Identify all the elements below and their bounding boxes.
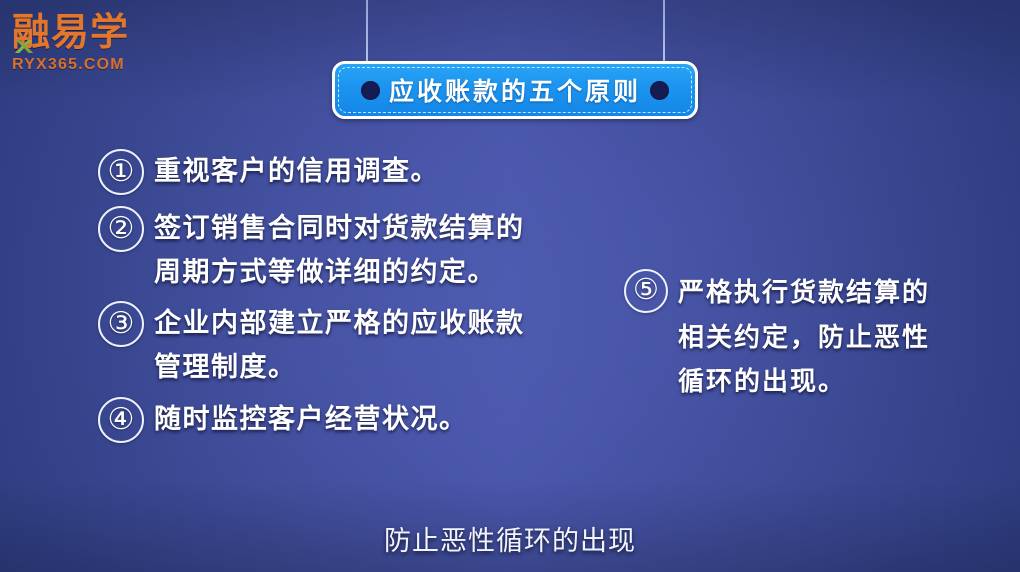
- text-line: 循环的出现。: [678, 359, 1014, 404]
- bullet-dot-icon-right: [650, 81, 669, 100]
- text-line: 重视客户的信用调查。: [154, 150, 638, 194]
- banner-content: 应收账款的五个原则: [361, 72, 669, 108]
- page-title: 应收账款的五个原则: [389, 72, 641, 108]
- logo-char-rong: 融: [12, 12, 51, 54]
- list-item: ③ 企业内部建立严格的应收账款 管理制度。: [98, 300, 638, 389]
- logo-wordmark: 融易学: [12, 14, 129, 54]
- list-item: ④ 随时监控客户经营状况。: [98, 396, 638, 443]
- banner-hanging-string-left: [366, 0, 368, 66]
- logo-char-xue: 学: [90, 12, 129, 54]
- caption-text: 防止恶性循环的出现: [384, 526, 636, 556]
- circled-number-4: ④: [98, 397, 144, 443]
- text-line: 随时监控客户经营状况。: [154, 398, 638, 442]
- list-item-text: 企业内部建立严格的应收账款 管理制度。: [154, 300, 638, 389]
- list-item-text: 重视客户的信用调查。: [154, 148, 638, 194]
- principles-right-column: ⑤ 严格执行货款结算的 相关约定，防止恶性 循环的出现。: [624, 268, 1014, 414]
- list-item-text: 严格执行货款结算的 相关约定，防止恶性 循环的出现。: [678, 268, 1014, 404]
- title-banner: 应收账款的五个原则: [332, 61, 698, 119]
- logo-char-yi: 易: [51, 12, 90, 54]
- text-line: 相关约定，防止恶性: [678, 315, 1014, 360]
- text-line: 管理制度。: [154, 346, 638, 390]
- list-item: ⑤ 严格执行货款结算的 相关约定，防止恶性 循环的出现。: [624, 268, 1014, 404]
- circled-number-2: ②: [98, 206, 144, 252]
- list-item: ② 签订销售合同时对货款结算的 周期方式等做详细的约定。: [98, 205, 638, 294]
- list-item-text: 签订销售合同时对货款结算的 周期方式等做详细的约定。: [154, 205, 638, 294]
- bottom-caption: 防止恶性循环的出现: [0, 519, 1020, 558]
- circled-number-3: ③: [98, 301, 144, 347]
- banner-hanging-string-right: [663, 0, 665, 66]
- circled-number-5: ⑤: [624, 269, 668, 313]
- principles-left-column: ① 重视客户的信用调查。 ② 签订销售合同时对货款结算的 周期方式等做详细的约定…: [98, 148, 638, 453]
- brand-logo: 融易学 RYX365.COM: [12, 14, 129, 73]
- text-line: 周期方式等做详细的约定。: [154, 251, 638, 295]
- text-line: 严格执行货款结算的: [678, 270, 1014, 315]
- text-line: 签订销售合同时对货款结算的: [154, 207, 638, 251]
- brand-url: RYX365.COM: [12, 57, 129, 73]
- list-item: ① 重视客户的信用调查。: [98, 148, 638, 195]
- circled-number-1: ①: [98, 149, 144, 195]
- list-item-text: 随时监控客户经营状况。: [154, 396, 638, 442]
- slide-canvas: 融易学 RYX365.COM 应收账款的五个原则 ① 重视客户的信用调查。 ② …: [0, 0, 1020, 572]
- bullet-dot-icon-left: [361, 81, 380, 100]
- text-line: 企业内部建立严格的应收账款: [154, 302, 638, 346]
